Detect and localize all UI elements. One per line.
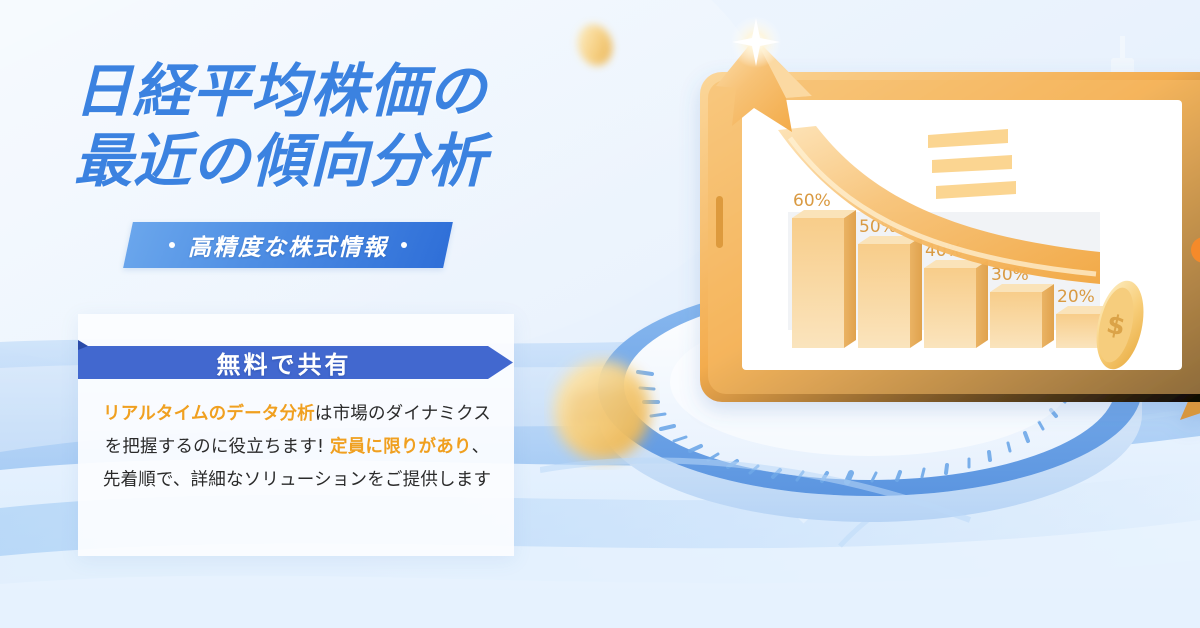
coin-top [572,20,617,70]
bar-4 [990,284,1054,348]
headline-line-1: 日経平均株価の [74,57,487,125]
ribbon-label: 無料で共有 [68,340,500,385]
list-widget-icon [928,129,1016,199]
card-body-text: リアルタイムのデータ分析は市場のダイナミクスを把握するのに役立ちます! 定員に限… [102,398,492,497]
subtitle-badge: 高精度な株式情報 [123,222,453,268]
bar-label-1: 60% [793,191,831,211]
bar-1 [792,210,856,348]
body-highlight-1: リアルタイムのデータ分析 [103,404,315,424]
bar-3 [924,260,988,348]
free-share-ribbon[interactable]: 無料で共有 [68,340,513,385]
bullet-dot-right-icon [401,242,407,248]
headline-line-2: 最近の傾向分析 [74,126,487,196]
subtitle-text: 高精度な株式情報 [188,228,388,262]
sparkle-icon [730,16,782,68]
bar-label-5: 20% [1057,287,1095,307]
bullet-dot-left-icon [169,242,175,248]
hero-illustration: 60% 50% 40% 30% 20% [540,0,1200,628]
body-highlight-2: 定員に限りがあり [330,437,472,457]
banner-stage: 日経平均株価の 最近の傾向分析 高精度な株式情報 無料で共有 リアルタイムのデー… [0,0,1200,628]
page-title: 日経平均株価の 最近の傾向分析 [74,56,487,196]
coin-left [554,360,650,460]
bar-2 [858,236,922,348]
